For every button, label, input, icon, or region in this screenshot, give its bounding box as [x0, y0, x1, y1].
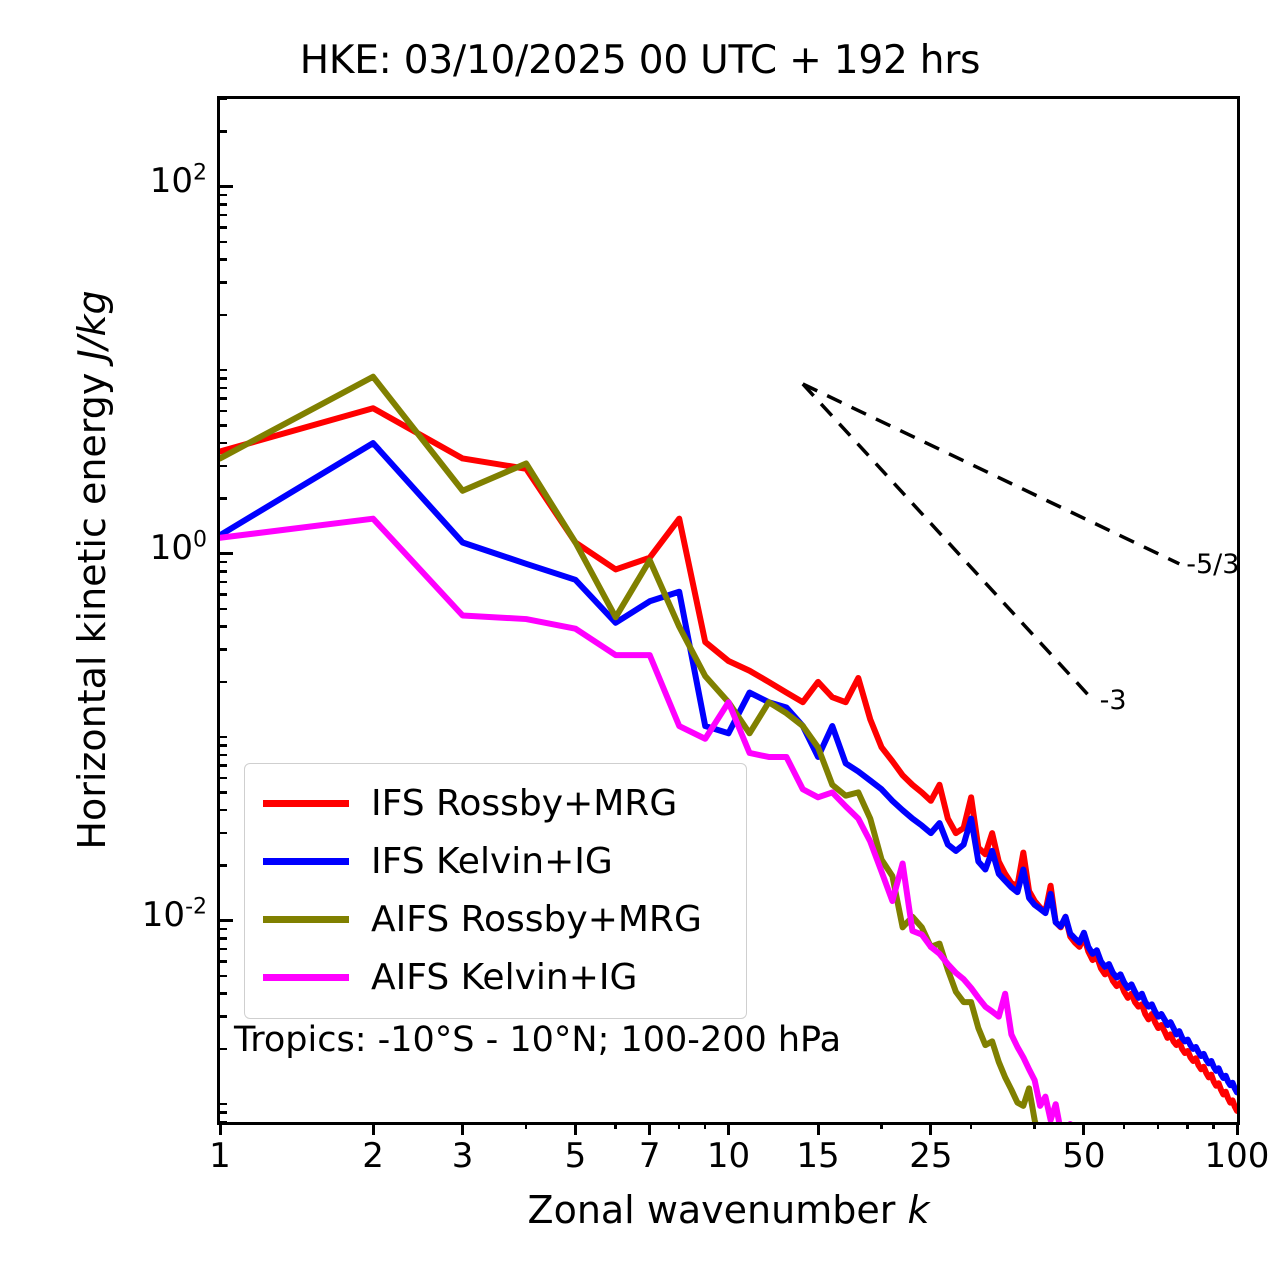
legend-color-swatch [263, 916, 349, 923]
reference-slope-lines [803, 384, 1179, 700]
tick-mark [929, 1122, 932, 1135]
tick-mark [678, 1122, 681, 1129]
x-axis-label: Zonal wavenumber k [217, 1188, 1240, 1232]
tick-mark [220, 625, 227, 628]
tick-mark [220, 397, 227, 400]
y-axis-label-units: J/kg [70, 290, 114, 360]
tick-mark [220, 552, 233, 555]
tick-mark [220, 1015, 227, 1018]
reference-line-0 [803, 384, 1179, 564]
x-tick-label: 25 [871, 1136, 991, 1176]
tick-mark [220, 130, 227, 133]
tick-mark [220, 369, 227, 372]
reference-line-1 [803, 384, 1093, 700]
x-tick-label: 15 [758, 1136, 878, 1176]
legend-item-0[interactable]: IFS Rossby+MRG [245, 774, 746, 832]
tick-mark [220, 226, 227, 229]
tick-mark [220, 465, 227, 468]
legend: IFS Rossby+MRGIFS Kelvin+IGAIFS Rossby+M… [244, 763, 747, 1019]
tick-mark [817, 1122, 820, 1135]
y-tick-mantissa: 10 [150, 528, 193, 568]
tick-mark [1212, 1122, 1215, 1129]
legend-item-2[interactable]: AIFS Rossby+MRG [245, 890, 746, 948]
legend-item-1[interactable]: IFS Kelvin+IG [245, 832, 746, 890]
tick-mark [220, 975, 227, 978]
tick-mark [574, 1122, 577, 1135]
y-tick-label: 10-2 [97, 895, 207, 935]
legend-color-swatch [263, 858, 349, 865]
tick-mark [220, 442, 227, 445]
tick-mark [525, 1122, 528, 1129]
tick-mark [220, 648, 227, 651]
legend-item-label: AIFS Rossby+MRG [371, 899, 702, 940]
tick-mark [1082, 1122, 1085, 1135]
tick-mark [220, 681, 227, 684]
tick-mark [220, 809, 227, 812]
tick-mark [220, 1103, 227, 1106]
tick-mark [220, 948, 227, 951]
page-title: HKE: 03/10/2025 00 UTC + 192 hrs [0, 38, 1280, 83]
tick-mark [220, 736, 227, 739]
tick-mark [220, 791, 227, 794]
tick-mark [220, 497, 227, 500]
tick-mark [220, 281, 227, 284]
tick-mark [220, 960, 227, 963]
legend-color-swatch [263, 800, 349, 807]
y-tick-mantissa: 10 [142, 895, 185, 935]
y-axis-label-text: Horizontal kinetic energy [70, 361, 114, 850]
tick-mark [614, 1122, 617, 1129]
y-tick-label: 102 [97, 161, 207, 201]
x-tick-label: 3 [403, 1136, 523, 1176]
legend-item-3[interactable]: AIFS Kelvin+IG [245, 948, 746, 1006]
tick-mark [970, 1122, 973, 1129]
tick-mark [220, 1121, 227, 1124]
tick-mark [220, 314, 227, 317]
tick-mark [220, 410, 227, 413]
region-annotation: Tropics: -10°S - 10°N; 100-200 hPa [234, 1020, 841, 1060]
y-tick-exponent: 0 [193, 527, 207, 552]
y-tick-exponent: 2 [193, 160, 207, 185]
tick-mark [220, 1111, 227, 1114]
tick-mark [1157, 1122, 1160, 1129]
tick-mark [220, 832, 227, 835]
y-axis-label: Horizontal kinetic energy J/kg [70, 190, 114, 950]
tick-mark [220, 608, 227, 611]
tick-mark [220, 194, 227, 197]
tick-mark [220, 1048, 227, 1051]
y-tick-mantissa: 10 [150, 161, 193, 201]
tick-mark [220, 764, 227, 767]
tick-mark [220, 570, 227, 573]
tick-mark [220, 777, 227, 780]
tick-mark [219, 1122, 222, 1135]
tick-mark [220, 744, 227, 747]
tick-mark [220, 593, 227, 596]
tick-mark [220, 937, 227, 940]
tick-mark [1033, 1122, 1036, 1129]
figure-canvas: HKE: 03/10/2025 00 UTC + 192 hrs Horizon… [0, 0, 1280, 1288]
tick-mark [704, 1122, 707, 1129]
tick-mark [220, 992, 227, 995]
tick-mark [220, 377, 227, 380]
x-axis-label-text: Zonal wavenumber [528, 1188, 908, 1232]
x-tick-label: 50 [1024, 1136, 1144, 1176]
tick-mark [880, 1122, 883, 1129]
legend-color-swatch [263, 974, 349, 981]
y-tick-exponent: -2 [185, 894, 207, 919]
tick-mark [220, 754, 227, 757]
tick-mark [220, 581, 227, 584]
tick-mark [1123, 1122, 1126, 1129]
tick-mark [1186, 1122, 1189, 1129]
tick-mark [220, 424, 227, 427]
tick-mark [220, 561, 227, 564]
tick-mark [220, 241, 227, 244]
tick-mark [220, 928, 227, 931]
tick-mark [220, 258, 227, 261]
tick-mark [220, 864, 227, 867]
slope-label-three: -3 [1100, 685, 1127, 716]
y-tick-label: 100 [97, 528, 207, 568]
x-tick-label: 1 [160, 1136, 280, 1176]
tick-mark [220, 98, 227, 101]
x-tick-label: 100 [1177, 1136, 1280, 1176]
tick-mark [220, 203, 227, 206]
tick-mark [220, 214, 227, 217]
legend-item-label: IFS Kelvin+IG [371, 841, 613, 882]
tick-mark [220, 185, 233, 188]
slope-label-five-thirds: -5/3 [1186, 549, 1239, 580]
tick-mark [372, 1122, 375, 1135]
tick-mark [648, 1122, 651, 1135]
tick-mark [220, 387, 227, 390]
x-axis-label-symbol: k [907, 1188, 929, 1232]
legend-item-label: AIFS Kelvin+IG [371, 957, 637, 998]
legend-item-label: IFS Rossby+MRG [371, 783, 677, 824]
tick-mark [727, 1122, 730, 1135]
tick-mark [220, 919, 233, 922]
tick-mark [461, 1122, 464, 1135]
tick-mark [1236, 1122, 1239, 1135]
